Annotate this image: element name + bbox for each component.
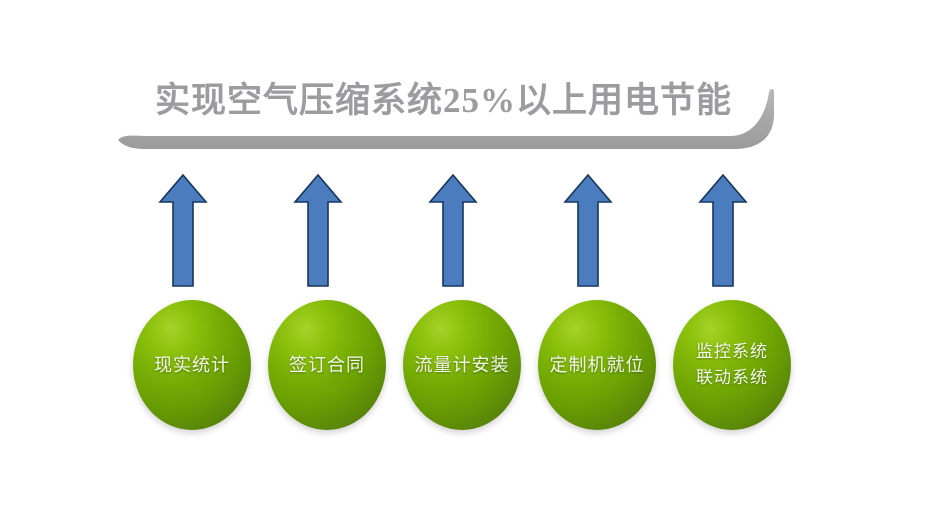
process-node-1-label: 现实统计: [150, 353, 234, 378]
up-arrow-1: [157, 172, 209, 290]
process-node-2-label: 签订合同: [285, 353, 369, 378]
process-node-4-label: 定制机就位: [546, 353, 649, 378]
process-node-5[interactable]: 监控系统 联动系统: [673, 300, 791, 430]
page-title: 实现空气压缩系统25%以上用电节能: [155, 78, 755, 124]
up-arrow-3: [427, 172, 479, 290]
slide-canvas: 实现空气压缩系统25%以上用电节能 现实统计 签订合同 流量计安装 定制机就位 …: [0, 0, 945, 529]
process-node-4[interactable]: 定制机就位: [538, 300, 656, 430]
process-node-1[interactable]: 现实统计: [133, 300, 251, 430]
process-node-5-label: 监控系统 联动系统: [692, 339, 772, 391]
process-node-2[interactable]: 签订合同: [268, 300, 386, 430]
title-banner: 实现空气压缩系统25%以上用电节能: [0, 30, 945, 160]
process-node-3-label: 流量计安装: [411, 353, 514, 378]
up-arrow-5: [697, 172, 749, 290]
up-arrow-4: [562, 172, 614, 290]
process-node-3[interactable]: 流量计安装: [403, 300, 521, 430]
up-arrow-2: [292, 172, 344, 290]
